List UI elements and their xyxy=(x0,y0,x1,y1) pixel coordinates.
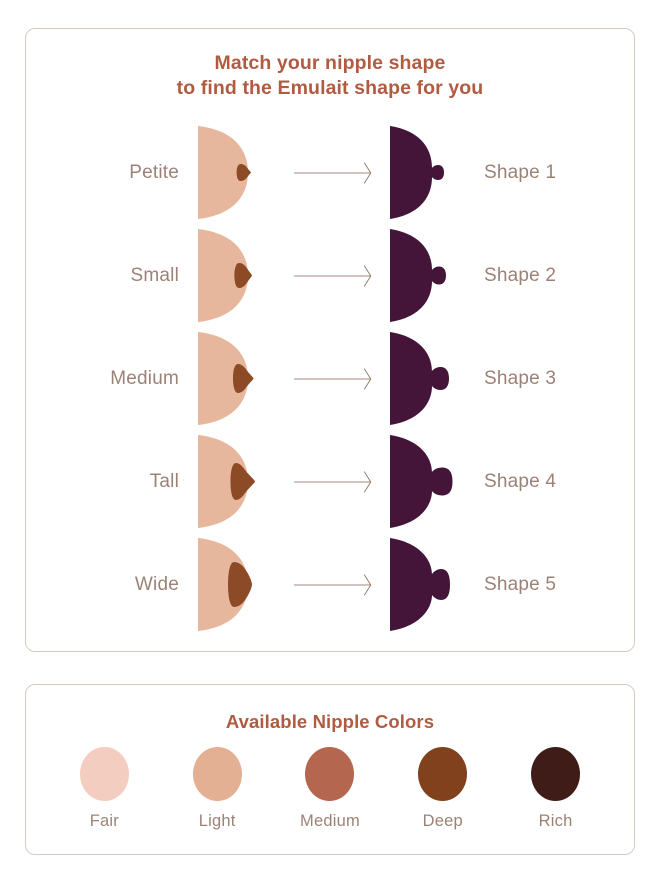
emulait-teat-shape-3 xyxy=(388,330,466,427)
breast-profile-tall xyxy=(196,433,268,530)
color-label: Fair xyxy=(90,812,119,831)
teat-profile-icon xyxy=(388,124,448,221)
color-label: Rich xyxy=(539,812,573,831)
color-label: Light xyxy=(199,812,236,831)
nipple-shape-label: Petite xyxy=(26,162,196,184)
nipple-color-swatch-fair[interactable]: Fair xyxy=(56,747,152,831)
emulait-teat-shape-1 xyxy=(388,124,466,221)
shape-match-list: Petite Shape 1 Small xyxy=(26,121,634,636)
arrow-right-icon xyxy=(294,469,374,495)
match-card-title-line2: to find the Emulait shape for you xyxy=(26,76,634,101)
shape-match-row[interactable]: Petite Shape 1 xyxy=(26,121,634,224)
arrow-right-icon xyxy=(294,263,374,289)
shape-match-row[interactable]: Small Shape 2 xyxy=(26,224,634,327)
breast-profile-icon xyxy=(196,330,256,427)
emulait-shape-label: Shape 5 xyxy=(466,574,634,596)
color-dot[interactable] xyxy=(531,747,580,801)
teat-profile-icon xyxy=(388,536,452,633)
arrow-right-icon xyxy=(294,366,374,392)
nipple-shape-label: Tall xyxy=(26,471,196,493)
match-arrow xyxy=(268,469,388,495)
breast-profile-icon xyxy=(196,124,254,221)
breast-profile-icon xyxy=(196,536,256,633)
breast-profile-wide xyxy=(196,536,268,633)
nipple-color-swatch-medium[interactable]: Medium xyxy=(282,747,378,831)
emulait-shape-label: Shape 1 xyxy=(466,162,634,184)
emulait-shape-label: Shape 2 xyxy=(466,265,634,287)
emulait-shape-label: Shape 4 xyxy=(466,471,634,493)
color-label: Deep xyxy=(423,812,463,831)
color-dot[interactable] xyxy=(305,747,354,801)
arrow-right-icon xyxy=(294,160,374,186)
nipple-shape-label: Wide xyxy=(26,574,196,596)
nipple-color-swatch-list: Fair Light Medium Deep Rich xyxy=(26,747,634,831)
match-shape-card: Match your nipple shape to find the Emul… xyxy=(25,28,635,652)
teat-profile-icon xyxy=(388,433,456,530)
available-colors-card: Available Nipple Colors Fair Light Mediu… xyxy=(25,684,635,855)
breast-profile-petite xyxy=(196,124,268,221)
match-arrow xyxy=(268,572,388,598)
emulait-shape-label: Shape 3 xyxy=(466,368,634,390)
color-dot[interactable] xyxy=(418,747,467,801)
emulait-teat-shape-4 xyxy=(388,433,466,530)
emulait-teat-shape-2 xyxy=(388,227,466,324)
emulait-teat-shape-5 xyxy=(388,536,466,633)
teat-profile-icon xyxy=(388,330,452,427)
color-dot[interactable] xyxy=(193,747,242,801)
nipple-shape-label: Medium xyxy=(26,368,196,390)
shape-match-row[interactable]: Wide Shape 5 xyxy=(26,533,634,636)
match-arrow xyxy=(268,366,388,392)
colors-card-title: Available Nipple Colors xyxy=(26,711,634,733)
breast-profile-icon xyxy=(196,227,254,324)
teat-profile-icon xyxy=(388,227,450,324)
color-label: Medium xyxy=(300,812,360,831)
nipple-shape-label: Small xyxy=(26,265,196,287)
nipple-color-swatch-rich[interactable]: Rich xyxy=(508,747,604,831)
match-arrow xyxy=(268,263,388,289)
match-card-title-line1: Match your nipple shape xyxy=(26,51,634,76)
match-card-title: Match your nipple shape to find the Emul… xyxy=(26,51,634,101)
shape-match-row[interactable]: Tall Shape 4 xyxy=(26,430,634,533)
match-arrow xyxy=(268,160,388,186)
breast-profile-medium xyxy=(196,330,268,427)
breast-profile-small xyxy=(196,227,268,324)
nipple-color-swatch-deep[interactable]: Deep xyxy=(395,747,491,831)
color-dot[interactable] xyxy=(80,747,129,801)
arrow-right-icon xyxy=(294,572,374,598)
breast-profile-icon xyxy=(196,433,260,530)
shape-match-row[interactable]: Medium Shape 3 xyxy=(26,327,634,430)
nipple-color-swatch-light[interactable]: Light xyxy=(169,747,265,831)
